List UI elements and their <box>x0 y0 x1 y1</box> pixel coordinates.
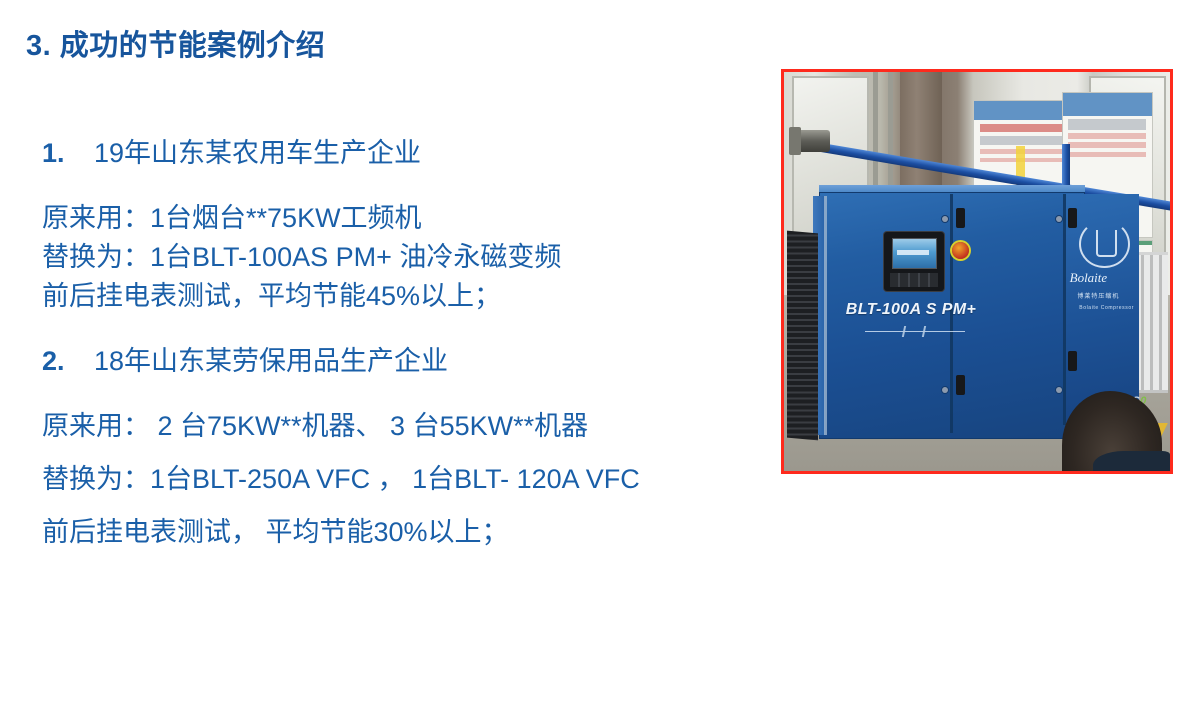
content-body: 1.19年山东某农用车生产企业 原来用：1台烟台**75KW工频机 替换为：1台… <box>0 140 780 546</box>
case-2-number: 2. <box>0 348 94 375</box>
brand-script-label: Bolaite <box>1070 270 1108 286</box>
case-1-heading-text: 19年山东某农用车生产企业 <box>94 138 421 168</box>
case-block-1: 1.19年山东某农用车生产企业 原来用：1台烟台**75KW工频机 替换为：1台… <box>0 140 780 310</box>
case-2-line-3: 前后挂电表测试， 平均节能30%以上； <box>0 519 780 546</box>
case-2-heading: 2.18年山东某劳保用品生产企业 <box>0 348 780 375</box>
poster-row <box>1068 133 1146 139</box>
spacer <box>0 493 780 519</box>
control-panel-screen <box>892 238 937 269</box>
control-panel <box>884 232 944 292</box>
case-2-line-1: 原来用： 2 台75KW**机器、 3 台55KW**机器 <box>0 413 780 440</box>
panel-bolt <box>1056 216 1062 222</box>
brand-english-label: Bolaite Compressor <box>1079 305 1134 311</box>
poster-row <box>980 124 1068 132</box>
spacer <box>0 440 780 466</box>
machine-model-label: BLT-100A S PM+ <box>846 301 977 319</box>
pipe-flange <box>796 130 830 152</box>
page-title: 3. 成功的节能案例介绍 <box>26 22 325 64</box>
poster-header <box>974 101 1074 120</box>
bolaite-logo-icon <box>1079 220 1129 268</box>
spacer <box>0 167 780 205</box>
case-1-line-1: 原来用：1台烟台**75KW工频机 <box>0 205 780 232</box>
decor-wave-line <box>865 331 965 332</box>
case-1-number: 1. <box>0 140 94 167</box>
poster-header <box>1063 93 1152 116</box>
case-1-line-3: 前后挂电表测试，平均节能45%以上； <box>0 283 780 310</box>
poster-row <box>980 136 1068 144</box>
brand-chinese-label: 博莱特压缩机 <box>1077 291 1119 300</box>
door-handle <box>1068 351 1077 371</box>
poster-row <box>1068 152 1146 158</box>
poster-row <box>1068 119 1146 129</box>
case-1-line-2: 替换为：1台BLT-100AS PM+ 油冷永磁变频 <box>0 244 780 271</box>
case-1-heading: 1.19年山东某农用车生产企业 <box>0 140 780 167</box>
door-handle <box>956 208 965 228</box>
case-2-heading-text: 18年山东某劳保用品生产企业 <box>94 346 448 376</box>
control-panel-keypad <box>890 273 938 287</box>
door-handle <box>956 375 965 395</box>
case-2-line-2: 替换为：1台BLT-250A VFC ， 1台BLT- 120A VFC <box>0 466 780 493</box>
emergency-stop-button <box>952 242 969 259</box>
compressor-photo: BLT-100A S PM+ Bolaite 博莱特压缩机 Bolaite Co… <box>781 69 1173 474</box>
photo-scene: BLT-100A S PM+ Bolaite 博莱特压缩机 Bolaite Co… <box>784 72 1170 471</box>
case-block-2: 2.18年山东某劳保用品生产企业 原来用： 2 台75KW**机器、 3 台55… <box>0 348 780 546</box>
spacer <box>0 310 780 348</box>
compressor-edge-rod <box>824 196 827 435</box>
vent-louvre <box>787 230 818 440</box>
slide-canvas: { "slide": { "title": "3. 成功的节能案例介绍", "t… <box>0 0 1200 707</box>
door-seam <box>1063 194 1066 425</box>
spacer <box>0 375 780 413</box>
door-handle <box>1068 208 1077 228</box>
poster-row <box>1068 142 1146 148</box>
panel-bolt <box>942 216 948 222</box>
person-shoulder <box>1093 451 1170 471</box>
